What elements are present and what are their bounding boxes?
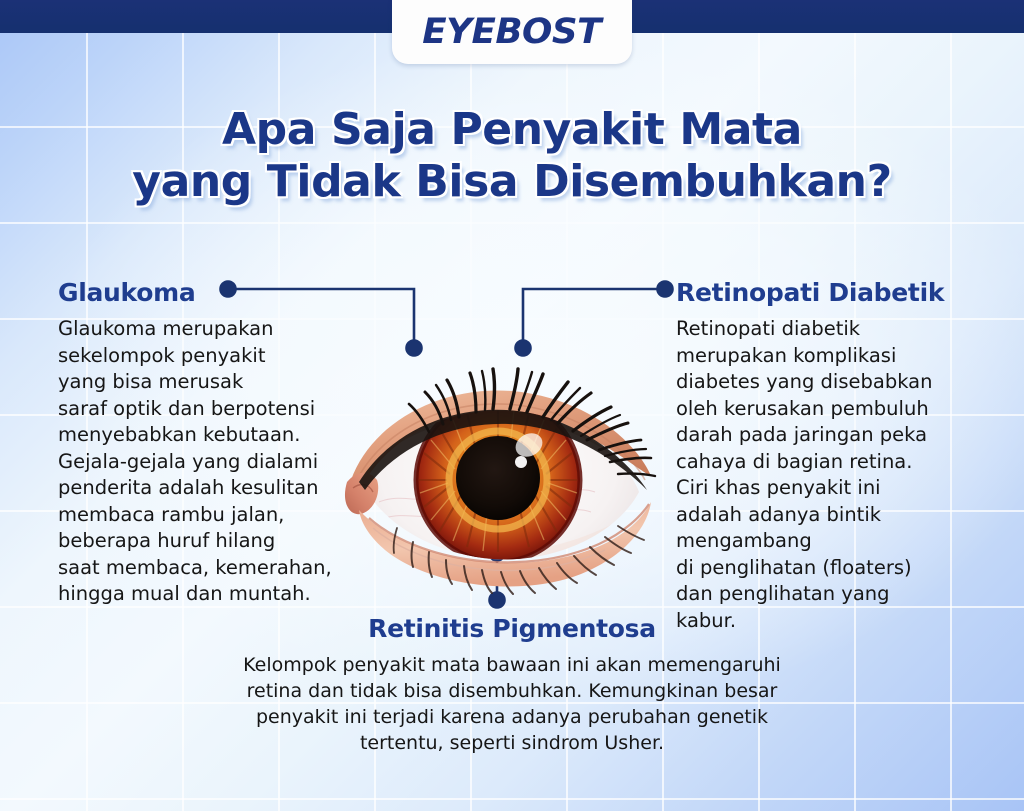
page-title: Apa Saja Penyakit Mata yang Tidak Bisa D… bbox=[0, 104, 1024, 208]
logo-badge: EYEBOST bbox=[392, 0, 632, 64]
page-title-line-1: Apa Saja Penyakit Mata bbox=[0, 104, 1024, 156]
eye-highlight-small bbox=[515, 456, 527, 468]
section-retinitis-heading: Retinitis Pigmentosa bbox=[0, 614, 1024, 643]
section-retinopati-body: Retinopati diabetik merupakan komplikasi… bbox=[676, 316, 996, 634]
page-title-line-2: yang Tidak Bisa Disembuhkan? bbox=[0, 156, 1024, 208]
infographic-poster: EYEBOST Apa Saja Penyakit Mata yang Tida… bbox=[0, 0, 1024, 811]
brand-logo-text: EYEBOST bbox=[423, 15, 602, 50]
section-retinopati-heading: Retinopati Diabetik bbox=[676, 278, 996, 307]
section-retinopati: Retinopati Diabetik Retinopati diabetik … bbox=[676, 278, 996, 634]
section-glaukoma-body: Glaukoma merupakan sekelompok penyakit y… bbox=[58, 316, 358, 608]
eye-illustration-wrapper bbox=[333, 352, 663, 604]
human-eye-illustration bbox=[333, 352, 663, 604]
section-retinitis: Retinitis Pigmentosa Kelompok penyakit m… bbox=[0, 614, 1024, 756]
connector-retinopati bbox=[516, 282, 673, 356]
section-glaukoma: Glaukoma Glaukoma merupakan sekelompok p… bbox=[58, 278, 358, 608]
section-glaukoma-heading: Glaukoma bbox=[58, 278, 358, 307]
section-retinitis-body: Kelompok penyakit mata bawaan ini akan m… bbox=[0, 652, 1024, 756]
